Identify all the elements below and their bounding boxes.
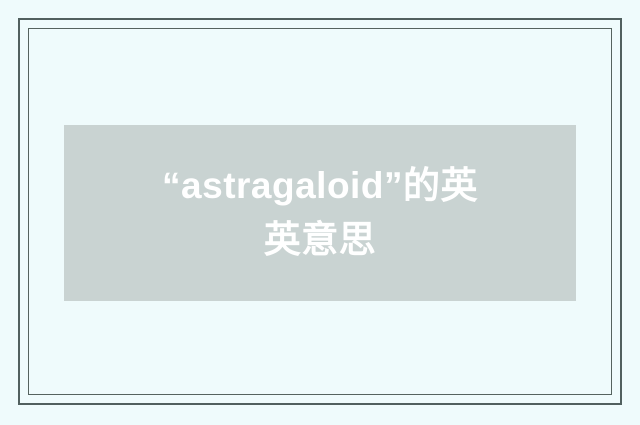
headline-text: “astragaloid”的英英意思 [64, 159, 576, 268]
headline-plate: “astragaloid”的英英意思 [64, 125, 576, 301]
image-card: “astragaloid”的英英意思 [0, 0, 640, 425]
